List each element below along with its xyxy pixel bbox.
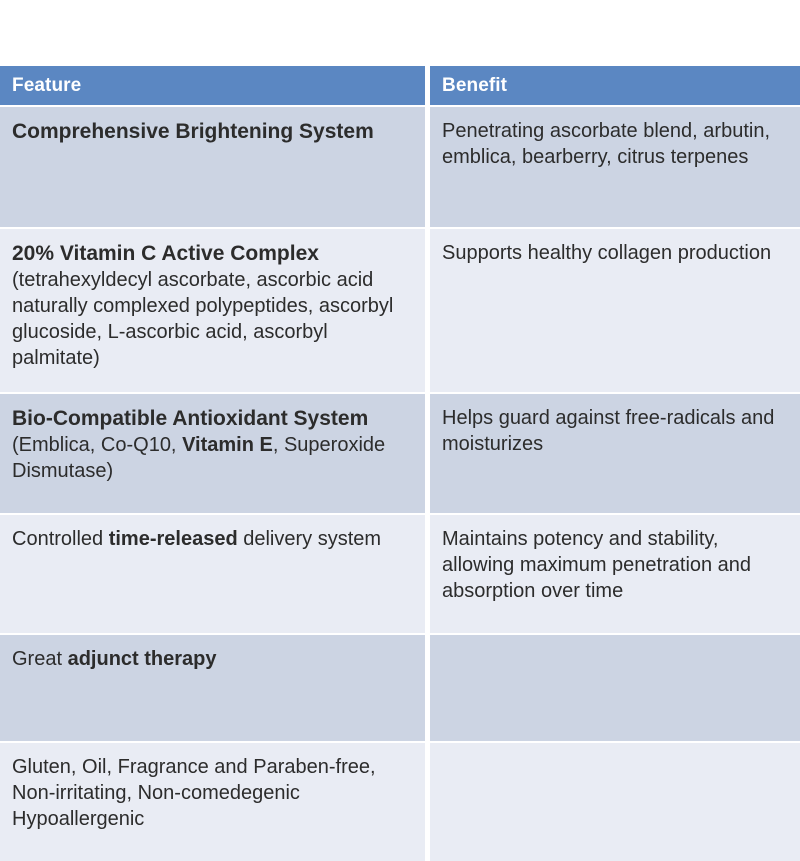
cell-feature: Bio-Compatible Antioxidant System (Embli… xyxy=(0,392,425,513)
feature-lead: Gluten, Oil, Fragrance and Paraben-free,… xyxy=(12,756,376,830)
table-body: Comprehensive Brightening System Penetra… xyxy=(0,105,800,861)
cell-benefit xyxy=(430,741,800,861)
feature-text: Controlled time-released delivery system xyxy=(12,526,411,552)
table-row: Great adjunct therapy xyxy=(0,633,800,741)
table-header: Feature Benefit xyxy=(0,66,800,105)
cell-benefit xyxy=(430,633,800,741)
feature-benefit-table-wrapper: Feature Benefit Comprehensive Brightenin… xyxy=(0,66,800,861)
cell-benefit: Penetrating ascorbate blend, arbutin, em… xyxy=(430,105,800,227)
column-header-benefit[interactable]: Benefit xyxy=(430,66,800,105)
cell-feature: Comprehensive Brightening System xyxy=(0,105,425,227)
feature-lead: Controlled xyxy=(12,528,109,550)
feature-text: Comprehensive Brightening System xyxy=(12,118,411,145)
page-root: Feature Benefit Comprehensive Brightenin… xyxy=(0,0,800,800)
cell-feature: 20% Vitamin C Active Complex(tetrahexyld… xyxy=(0,227,425,392)
table-row: Gluten, Oil, Fragrance and Paraben-free,… xyxy=(0,741,800,861)
feature-bold-mid: adjunct therapy xyxy=(68,648,217,670)
feature-tail: delivery system xyxy=(238,528,381,550)
table-row: Controlled time-released delivery system… xyxy=(0,513,800,633)
feature-bold-mid: time-released xyxy=(109,528,238,550)
feature-detail: (tetrahexyldecyl ascorbate, ascorbic aci… xyxy=(12,269,393,369)
cell-feature: Great adjunct therapy xyxy=(0,633,425,741)
feature-lead: Great xyxy=(12,648,68,670)
cell-benefit: Helps guard against free-radicals and mo… xyxy=(430,392,800,513)
feature-detail: (Emblica, Co-Q10, xyxy=(12,434,182,456)
table-row: Comprehensive Brightening System Penetra… xyxy=(0,105,800,227)
table-row: 20% Vitamin C Active Complex(tetrahexyld… xyxy=(0,227,800,392)
feature-text: Great adjunct therapy xyxy=(12,646,411,672)
column-header-feature[interactable]: Feature xyxy=(0,66,425,105)
feature-benefit-table: Feature Benefit Comprehensive Brightenin… xyxy=(0,66,800,861)
cell-feature: Controlled time-released delivery system xyxy=(0,513,425,633)
table-row: Bio-Compatible Antioxidant System (Embli… xyxy=(0,392,800,513)
feature-bold-lead: Bio-Compatible Antioxidant System xyxy=(12,407,368,430)
cell-benefit: Supports healthy collagen production xyxy=(430,227,800,392)
header-row: Feature Benefit xyxy=(0,66,800,105)
feature-bold-mid: Vitamin E xyxy=(182,434,273,456)
feature-text: 20% Vitamin C Active Complex(tetrahexyld… xyxy=(12,240,411,371)
cell-feature: Gluten, Oil, Fragrance and Paraben-free,… xyxy=(0,741,425,861)
feature-text: Bio-Compatible Antioxidant System (Embli… xyxy=(12,405,411,484)
feature-bold-lead: Comprehensive Brightening System xyxy=(12,120,374,143)
feature-bold-lead: 20% Vitamin C Active Complex xyxy=(12,242,319,265)
feature-text: Gluten, Oil, Fragrance and Paraben-free,… xyxy=(12,754,411,832)
cell-benefit: Maintains potency and stability, allowin… xyxy=(430,513,800,633)
